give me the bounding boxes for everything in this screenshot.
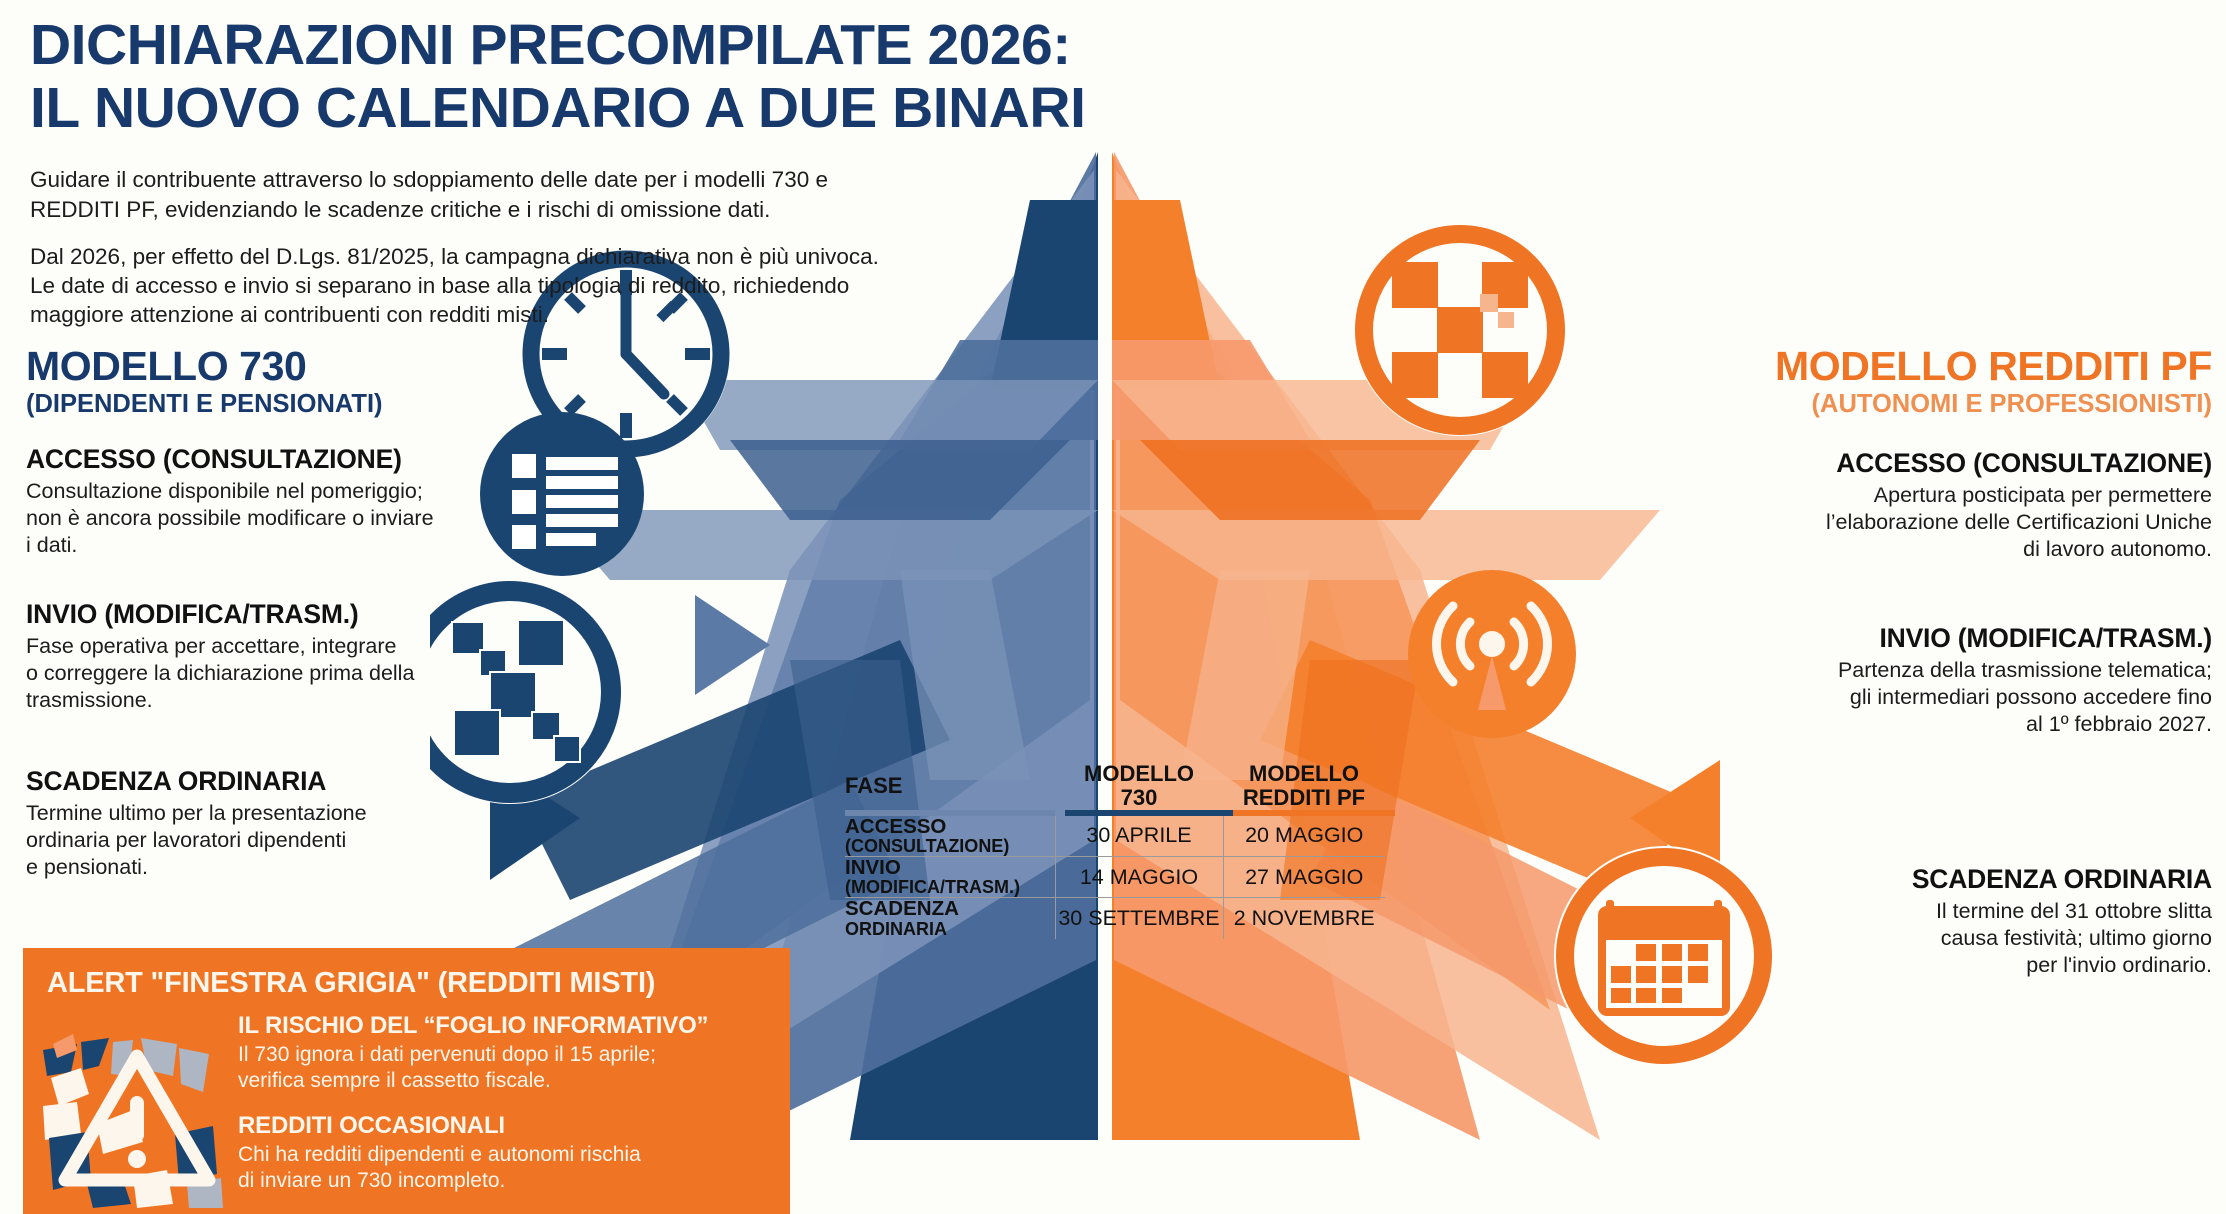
orange-funnel	[1112, 152, 1720, 1140]
left-block-scadenza-body: Termine ultimo per la presentazione ordi…	[26, 800, 496, 881]
table-row: ACCESSO (CONSULTAZIONE) 30 APRILE 20 MAG…	[845, 816, 1385, 857]
alert-item-redditi-occasionali: REDDITI OCCASIONALI Chi ha redditi dipen…	[238, 1112, 778, 1194]
right-column-heading: MODELLO REDDITI PF	[1722, 346, 2212, 387]
table-cell-phase: SCADENZA ORDINARIA	[845, 898, 1055, 939]
checkerboard-icon	[1354, 224, 1566, 436]
table-row: INVIO (MODIFICA/TRASM.) 14 MAGGIO 27 MAG…	[845, 856, 1385, 897]
table-row: SCADENZA ORDINARIA 30 SETTEMBRE 2 NOVEMB…	[845, 898, 1385, 939]
left-block-accesso: ACCESSO (CONSULTAZIONE) Consultazione di…	[26, 444, 496, 559]
alert-box-title: ALERT "FINESTRA GRIGIA" (REDDITI MISTI)	[47, 967, 655, 1000]
left-block-accesso-body: Consultazione disponibile nel pomeriggio…	[26, 478, 496, 559]
phase-main-label: ACCESSO	[845, 816, 1055, 838]
broadcast-icon	[1408, 570, 1576, 738]
right-block-invio-body: Partenza della trasmissione telematica; …	[1722, 657, 2212, 738]
right-block-scadenza-title: SCADENZA ORDINARIA	[1722, 864, 2212, 895]
left-block-scadenza: SCADENZA ORDINARIA Termine ultimo per la…	[26, 766, 496, 881]
alert-item-title: REDDITI OCCASIONALI	[238, 1112, 778, 1140]
page-title-line-2: IL NUOVO CALENDARIO A DUE BINARI	[30, 76, 1085, 140]
intro-paragraph-1: Guidare il contribuente attraverso lo sd…	[30, 165, 910, 224]
phase-main-label: INVIO	[845, 857, 1055, 879]
left-column-subheading: (DIPENDENTI E PENSIONATI)	[26, 391, 496, 418]
left-block-invio-title: INVIO (MODIFICA/TRASM.)	[26, 599, 496, 630]
phase-main-label: SCADENZA	[845, 898, 1055, 920]
header-block: DICHIARAZIONI PRECOMPILATE 2026: IL NUOV…	[30, 14, 1170, 330]
right-column-subheading: (AUTONOMI E PROFESSIONISTI)	[1722, 391, 2212, 418]
left-block-scadenza-title: SCADENZA ORDINARIA	[26, 766, 496, 797]
page-title: DICHIARAZIONI PRECOMPILATE 2026: IL NUOV…	[30, 14, 1170, 139]
left-block-invio: INVIO (MODIFICA/TRASM.) Fase operativa p…	[26, 599, 496, 714]
warning-triangle-icon	[37, 1014, 237, 1210]
right-block-invio-title: INVIO (MODIFICA/TRASM.)	[1722, 623, 2212, 654]
left-column-heading: MODELLO 730	[26, 346, 496, 387]
table-cell-phase: INVIO (MODIFICA/TRASM.)	[845, 856, 1055, 897]
table-cell-730-value: 14 MAGGIO	[1055, 856, 1223, 897]
table-header-fase: FASE	[845, 762, 1055, 810]
right-block-scadenza-body: Il termine del 31 ottobre slitta causa f…	[1722, 898, 2212, 979]
table-header-row: FASE MODELLO 730 MODELLO REDDITI PF	[845, 762, 1385, 810]
list-icon	[480, 412, 644, 576]
left-block-invio-body: Fase operativa per accettare, integrare …	[26, 633, 496, 714]
phase-sub-label: ORDINARIA	[845, 920, 1055, 939]
right-block-accesso-title: ACCESSO (CONSULTAZIONE)	[1722, 448, 2212, 479]
left-block-accesso-title: ACCESSO (CONSULTAZIONE)	[26, 444, 496, 475]
table-cell-redditi-value: 2 NOVEMBRE	[1223, 898, 1385, 939]
intro-paragraph-2: Dal 2026, per effetto del D.Lgs. 81/2025…	[30, 242, 910, 330]
table-header-modello-redditi-pf: MODELLO REDDITI PF	[1223, 762, 1385, 810]
right-block-accesso-body: Apertura posticipata per permettere l’el…	[1722, 482, 2212, 563]
alert-item-title: IL RISCHIO DEL “FOGLIO INFORMATIVO”	[238, 1012, 778, 1040]
table-cell-phase: ACCESSO (CONSULTAZIONE)	[845, 816, 1055, 857]
table-cell-730-value: 30 SETTEMBRE	[1055, 898, 1223, 939]
alert-item-body: Chi ha redditi dipendenti e autonomi ris…	[238, 1142, 778, 1194]
comparison-table: FASE MODELLO 730 MODELLO REDDITI PF ACCE…	[845, 762, 1385, 939]
right-block-scadenza: SCADENZA ORDINARIA Il termine del 31 ott…	[1722, 864, 2212, 979]
infographic-canvas: DICHIARAZIONI PRECOMPILATE 2026: IL NUOV…	[0, 0, 2226, 1214]
right-block-accesso: ACCESSO (CONSULTAZIONE) Apertura postici…	[1722, 448, 2212, 563]
page-title-line-1: DICHIARAZIONI PRECOMPILATE 2026:	[30, 13, 1071, 77]
alert-item-body: Il 730 ignora i dati pervenuti dopo il 1…	[238, 1042, 778, 1094]
alert-box-finestra-grigia: ALERT "FINESTRA GRIGIA" (REDDITI MISTI)	[23, 948, 790, 1214]
right-column-modello-redditi-pf: MODELLO REDDITI PF (AUTONOMI E PROFESSIO…	[1722, 346, 2212, 979]
phase-sub-label: (CONSULTAZIONE)	[845, 837, 1055, 856]
right-block-invio: INVIO (MODIFICA/TRASM.) Partenza della t…	[1722, 623, 2212, 738]
table-cell-redditi-value: 27 MAGGIO	[1223, 856, 1385, 897]
alert-items-list: IL RISCHIO DEL “FOGLIO INFORMATIVO” Il 7…	[238, 1012, 778, 1194]
table-cell-redditi-value: 20 MAGGIO	[1223, 816, 1385, 857]
table-cell-730-value: 30 APRILE	[1055, 816, 1223, 857]
alert-item-foglio-informativo: IL RISCHIO DEL “FOGLIO INFORMATIVO” Il 7…	[238, 1012, 778, 1094]
table-header-modello-730: MODELLO 730	[1055, 762, 1223, 810]
left-column-modello-730: MODELLO 730 (DIPENDENTI E PENSIONATI) AC…	[26, 346, 496, 881]
phase-sub-label: (MODIFICA/TRASM.)	[845, 878, 1055, 897]
